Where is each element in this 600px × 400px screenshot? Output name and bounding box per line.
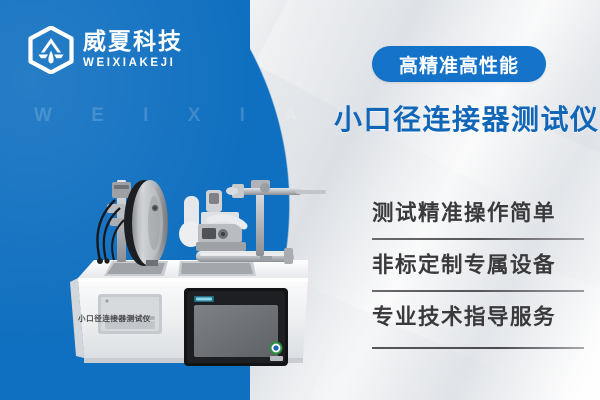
logo-company-cn: 威夏科技 (83, 31, 183, 54)
small-bore-connector-tester-illustration (60, 160, 330, 385)
logo-text-block: 威夏科技 WEIXIAKEJI (83, 31, 183, 70)
feature-label: 专业技术指导服务 (372, 302, 586, 334)
headline-badge: 高精准高性能 (372, 46, 546, 82)
headline-badge-label: 高精准高性能 (399, 51, 519, 78)
product-banner: 威夏科技 WEIXIAKEJI W E I X I A K 高精准高性能 小口径… (0, 0, 600, 400)
feature-divider (372, 290, 584, 292)
feature-divider (372, 238, 584, 240)
product-image (60, 160, 330, 385)
logo-company-en: WEIXIAKEJI (83, 58, 183, 70)
product-front-panel-label: 小口径连接器测试仪 (78, 313, 151, 324)
page-title: 小口径连接器测试仪 (334, 98, 600, 138)
hexagon-arrow-icon (28, 26, 74, 74)
list-item: 测试精准操作简单 (372, 198, 586, 240)
feature-list: 测试精准操作简单 非标定制专属设备 专业技术指导服务 (372, 198, 586, 334)
feature-label: 测试精准操作简单 (372, 198, 586, 230)
list-item: 非标定制专属设备 (372, 250, 586, 292)
feature-label: 非标定制专属设备 (372, 250, 586, 282)
feature-divider-bottom (372, 347, 584, 349)
list-item: 专业技术指导服务 (372, 302, 586, 334)
brand-watermark: W E I X I A K (34, 105, 367, 127)
brand-logo: 威夏科技 WEIXIAKEJI (28, 26, 183, 74)
